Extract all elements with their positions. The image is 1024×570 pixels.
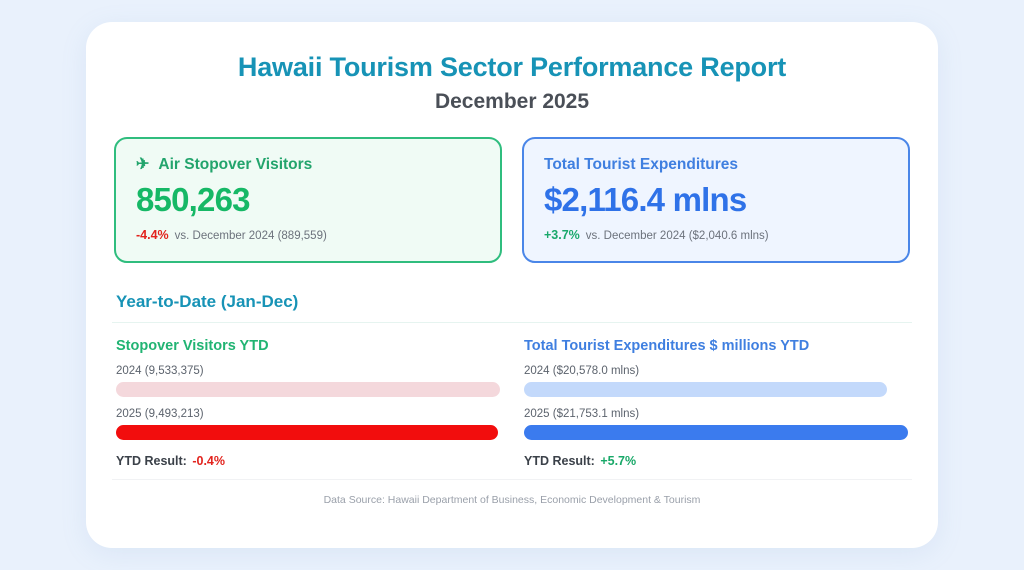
ytd-bar-label: 2024 ($20,578.0 mlns)	[524, 365, 908, 377]
ytd-bar-fill	[116, 425, 498, 440]
kpi-card-label: Total Tourist Expenditures	[544, 156, 738, 174]
report-card: Hawaii Tourism Sector Performance Report…	[86, 22, 938, 548]
ytd-columns: Stopover Visitors YTD 2024 (9,533,375) 2…	[112, 338, 912, 468]
ytd-column-stopover-visitors: Stopover Visitors YTD 2024 (9,533,375) 2…	[116, 338, 500, 468]
ytd-result-label: YTD Result:	[524, 454, 595, 468]
ytd-bar-fill	[524, 382, 887, 397]
kpi-comparison-text: vs. December 2024 ($2,040.6 mlns)	[586, 230, 769, 242]
kpi-comparison-text: vs. December 2024 (889,559)	[175, 230, 327, 242]
ytd-section-heading: Year-to-Date (Jan-Dec)	[112, 292, 912, 312]
ytd-bar-fill	[524, 425, 908, 440]
kpi-card-header: Total Tourist Expenditures	[544, 156, 888, 174]
ytd-bar-label: 2025 (9,493,213)	[116, 408, 500, 420]
ytd-result: YTD Result: +5.7%	[524, 454, 908, 468]
kpi-card-value: $2,116.4 mlns	[544, 182, 888, 219]
page-background: Hawaii Tourism Sector Performance Report…	[0, 0, 1024, 570]
kpi-card-row: ✈ Air Stopover Visitors 850,263 -4.4% vs…	[112, 137, 912, 263]
ytd-column-total-tourist-expenditures: Total Tourist Expenditures $ millions YT…	[524, 338, 908, 468]
ytd-result-label: YTD Result:	[116, 454, 187, 468]
data-source-note: Data Source: Hawaii Department of Busine…	[86, 494, 938, 506]
ytd-bar-track	[524, 425, 908, 440]
ytd-section-divider	[112, 322, 912, 323]
ytd-bar-track	[116, 425, 500, 440]
ytd-result-value: -0.4%	[192, 454, 225, 468]
ytd-bar-group-2025: 2025 (9,493,213)	[116, 408, 500, 440]
page-subtitle: December 2025	[112, 90, 912, 114]
ytd-column-title: Stopover Visitors YTD	[116, 338, 500, 354]
kpi-card-total-tourist-expenditures: Total Tourist Expenditures $2,116.4 mlns…	[522, 137, 910, 263]
ytd-column-title: Total Tourist Expenditures $ millions YT…	[524, 338, 908, 354]
ytd-bar-label: 2024 (9,533,375)	[116, 365, 500, 377]
ytd-bar-group-2024: 2024 (9,533,375)	[116, 365, 500, 397]
ytd-result: YTD Result: -0.4%	[116, 454, 500, 468]
ytd-bar-track	[524, 382, 908, 397]
airplane-icon: ✈	[136, 157, 150, 173]
kpi-card-label: Air Stopover Visitors	[158, 156, 312, 174]
kpi-card-comparison: -4.4% vs. December 2024 (889,559)	[136, 228, 480, 242]
kpi-delta-badge: +3.7%	[544, 228, 580, 242]
kpi-card-air-stopover-visitors: ✈ Air Stopover Visitors 850,263 -4.4% vs…	[114, 137, 502, 263]
kpi-delta-badge: -4.4%	[136, 228, 169, 242]
ytd-bar-fill	[116, 382, 500, 397]
footer-divider	[112, 479, 912, 480]
kpi-card-comparison: +3.7% vs. December 2024 ($2,040.6 mlns)	[544, 228, 888, 242]
ytd-result-value: +5.7%	[600, 454, 636, 468]
ytd-bar-group-2024: 2024 ($20,578.0 mlns)	[524, 365, 908, 397]
ytd-bar-label: 2025 ($21,753.1 mlns)	[524, 408, 908, 420]
ytd-bar-group-2025: 2025 ($21,753.1 mlns)	[524, 408, 908, 440]
page-title: Hawaii Tourism Sector Performance Report	[112, 52, 912, 83]
kpi-card-header: ✈ Air Stopover Visitors	[136, 156, 480, 174]
ytd-bar-track	[116, 382, 500, 397]
kpi-card-value: 850,263	[136, 182, 480, 219]
